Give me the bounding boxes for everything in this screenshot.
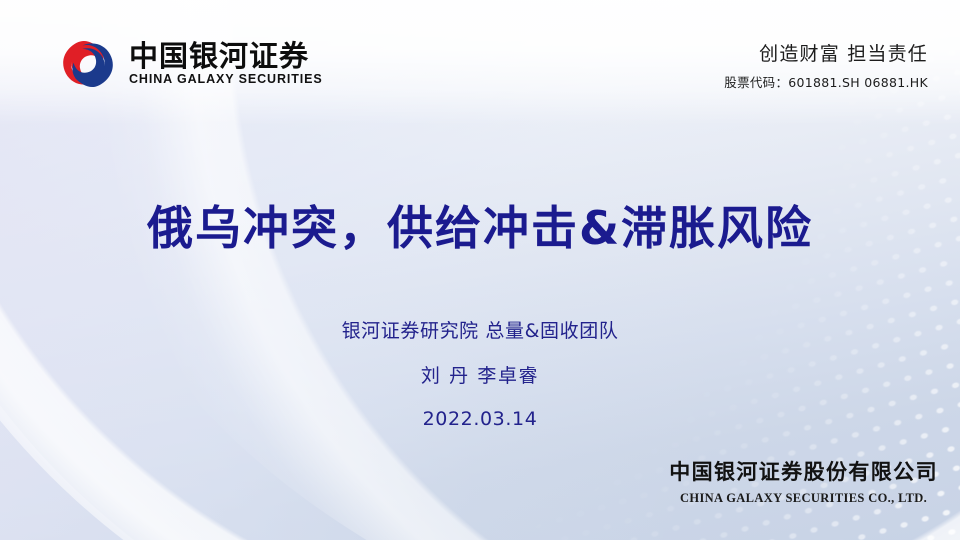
slogan-block: 创造财富 担当责任 股票代码：601881.SH 06881.HK: [724, 42, 928, 91]
presentation-date: 2022.03.14: [0, 408, 960, 431]
slide-header: 中国银河证券 CHINA GALAXY SECURITIES 创造财富 担当责任…: [0, 0, 960, 122]
title-slide: 中国银河证券 CHINA GALAXY SECURITIES 创造财富 担当责任…: [0, 0, 960, 540]
brand-name-cn: 中国银河证券: [129, 41, 323, 71]
brand-text: 中国银河证券 CHINA GALAXY SECURITIES: [129, 41, 323, 86]
brand-name-en: CHINA GALAXY SECURITIES: [129, 73, 323, 87]
brand-lockup: 中国银河证券 CHINA GALAXY SECURITIES: [60, 38, 323, 90]
company-footer: 中国银河证券股份有限公司 CHINA GALAXY SECURITIES CO.…: [669, 459, 938, 506]
slide-subtitle-block: 银河证券研究院 总量&固收团队 刘 丹 李卓睿 2022.03.14: [0, 320, 960, 430]
company-name-en: CHINA GALAXY SECURITIES CO., LTD.: [669, 491, 938, 506]
stock-code: 股票代码：601881.SH 06881.HK: [724, 72, 928, 91]
slide-title: 俄乌冲突，供给冲击&滞胀风险: [0, 192, 960, 258]
company-slogan: 创造财富 担当责任: [724, 42, 928, 67]
research-team: 银河证券研究院 总量&固收团队: [0, 320, 960, 343]
company-name-cn: 中国银河证券股份有限公司: [669, 459, 938, 485]
author-names: 刘 丹 李卓睿: [0, 365, 960, 388]
galaxy-swirl-logo-icon: [60, 38, 116, 90]
